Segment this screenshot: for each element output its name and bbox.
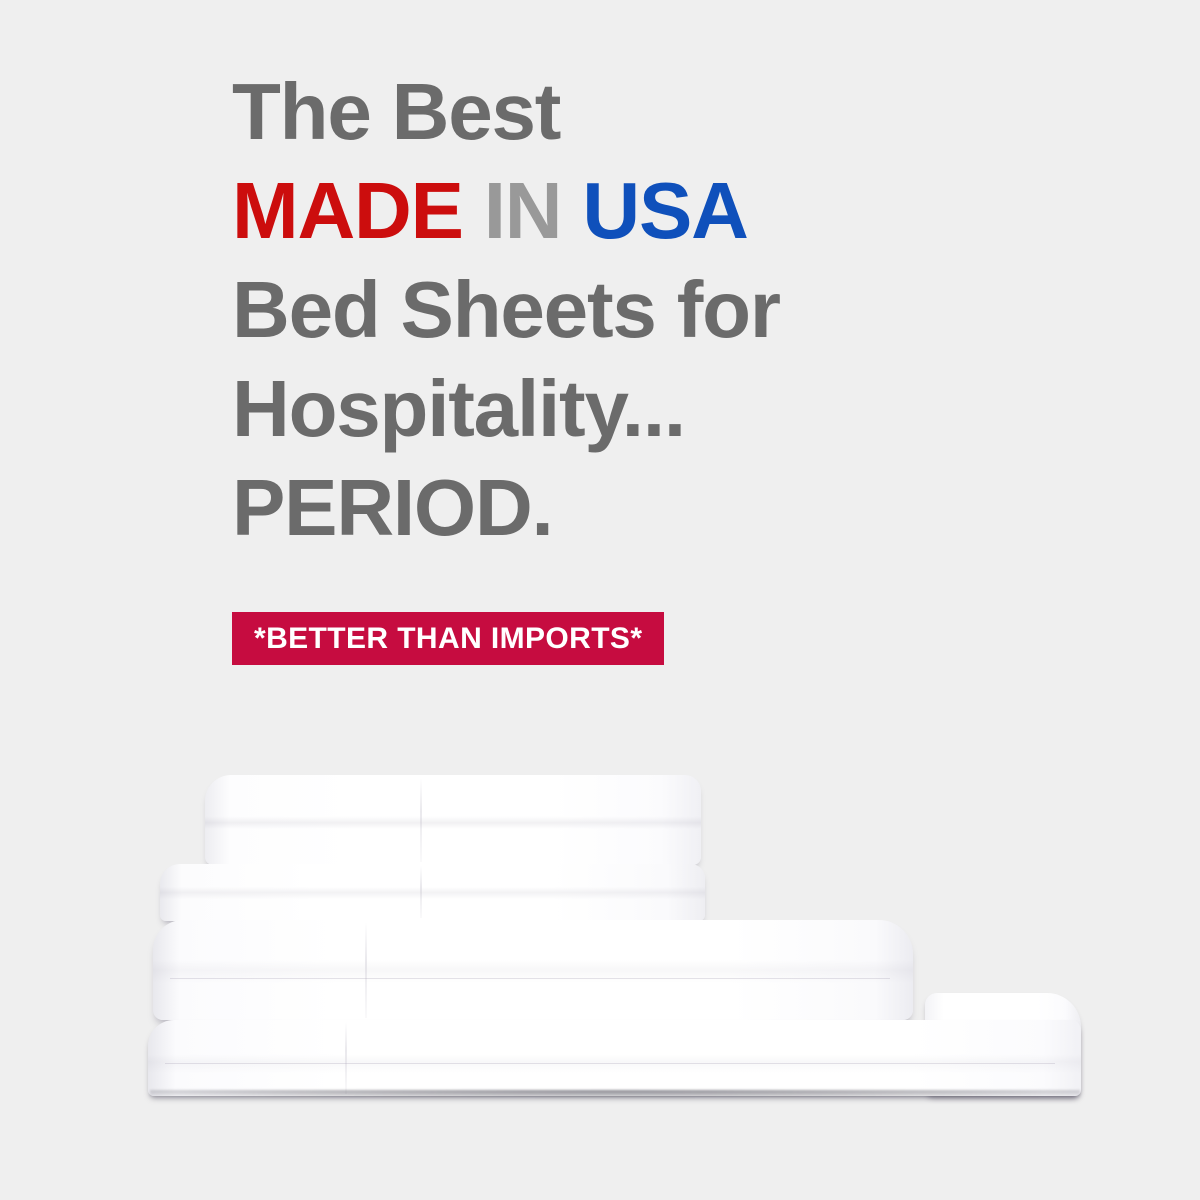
- pillowcase: [925, 993, 1081, 1096]
- headline-line-4: Hospitality...: [232, 359, 952, 458]
- large-flat-sheet: [153, 920, 913, 1020]
- better-than-imports-banner: *BETTER THAN IMPORTS*: [232, 612, 664, 665]
- headline-word-usa: USA: [582, 166, 747, 255]
- second-folded-sheet: [160, 864, 705, 921]
- promo-poster: The Best MADE IN USA Bed Sheets for Hosp…: [0, 0, 1200, 1200]
- bottom-flat-sheet: [148, 1020, 1081, 1096]
- headline-word-made: MADE: [232, 166, 463, 255]
- fold-crease-second: [420, 866, 422, 918]
- contact-shadow: [150, 1090, 1080, 1097]
- banner-label: *BETTER THAN IMPORTS*: [254, 624, 642, 654]
- fold-crease-top: [420, 778, 422, 862]
- headline-line-3: Bed Sheets for: [232, 260, 952, 359]
- headline-line-2: MADE IN USA: [232, 161, 952, 260]
- fold-crease-bottom: [345, 1022, 347, 1094]
- headline-line-5: PERIOD.: [232, 458, 952, 557]
- hem-stitch-bottom-sheet: [165, 1063, 1055, 1064]
- headline-word-in: IN: [463, 166, 583, 255]
- headline-line-1: The Best: [232, 62, 952, 161]
- headline-block: The Best MADE IN USA Bed Sheets for Hosp…: [232, 62, 952, 557]
- hem-stitch-large-sheet: [170, 978, 890, 979]
- top-folded-sheet: [205, 775, 701, 865]
- fold-crease-large: [365, 922, 367, 1018]
